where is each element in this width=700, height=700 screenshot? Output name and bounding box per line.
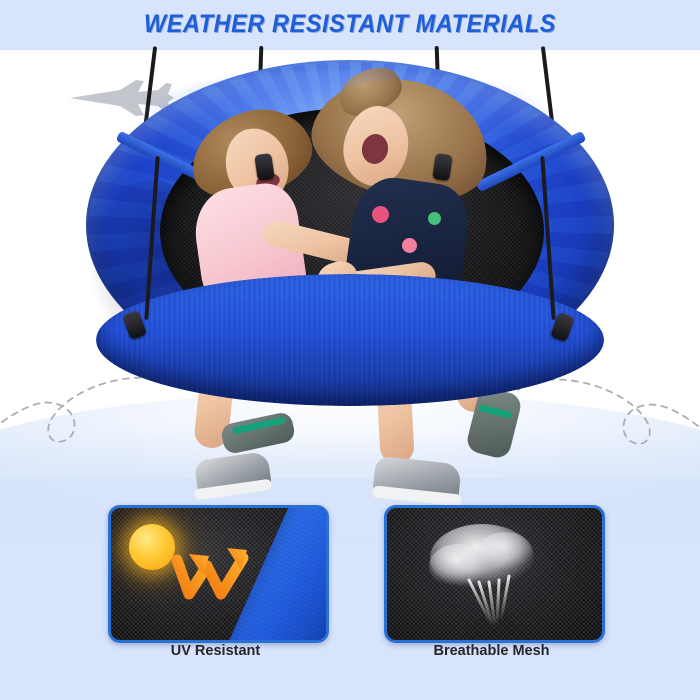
child-right-shirt-floral-2 [402, 238, 417, 253]
swing-rim-front-texture [96, 274, 604, 406]
uv-deflect-arrows-icon [111, 508, 326, 640]
airflow-plume-icon [387, 508, 602, 640]
feature-panels: UV Resistant [0, 505, 700, 655]
page-title: WEATHER RESISTANT MATERIALS [21, 10, 679, 39]
rope-clamp-2 [254, 153, 274, 181]
product-feature-graphic: WEATHER RESISTANT MATERIALS [0, 0, 700, 700]
feature-panel-uv-resistant[interactable] [108, 505, 329, 643]
child-right-shirt-floral-5 [428, 212, 441, 225]
hero-product-photo [0, 46, 700, 516]
rope-clamp-3 [432, 153, 452, 181]
feature-caption-breathable-mesh: Breathable Mesh [384, 643, 599, 659]
feature-caption-uv-resistant: UV Resistant [108, 643, 323, 659]
saucer-swing [86, 60, 614, 420]
feature-panel-breathable-mesh[interactable] [384, 505, 605, 643]
child-right-shirt-floral-1 [372, 206, 389, 223]
